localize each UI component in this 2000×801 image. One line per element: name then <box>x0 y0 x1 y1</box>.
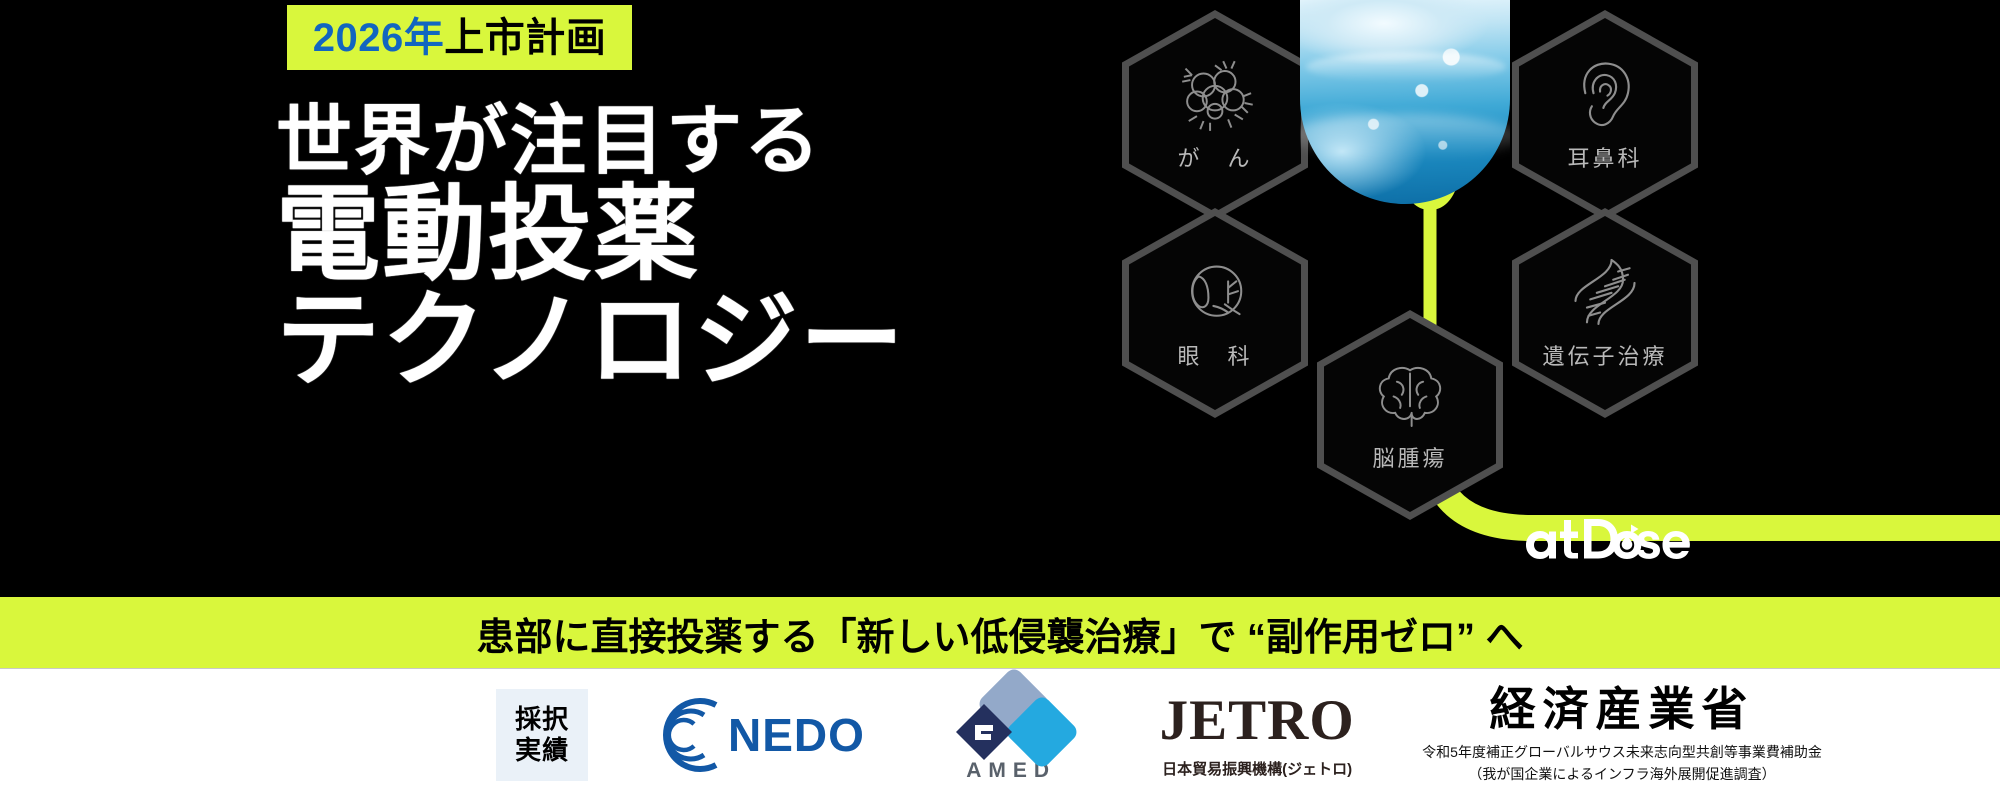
badge-year: 2026年 <box>313 16 444 60</box>
eyeball-icon <box>1174 255 1256 329</box>
page-title: 世界が注目する 電動投薬 テクノロジー <box>276 105 906 393</box>
headline-line-2: 電動投薬 <box>276 185 906 287</box>
chip-line-1: 採択 <box>515 704 569 735</box>
jetro-logo: JETRO 日本貿易振興機構(ジェトロ) <box>1148 692 1366 779</box>
chip-line-2: 実績 <box>515 735 569 766</box>
tagline-text: 患部に直接投薬する「新しい低侵襲治療」で “副作用ゼロ” へ <box>476 606 1523 661</box>
svg-text:NEDO: NEDO <box>728 709 865 761</box>
adoption-record-chip: 採択 実績 <box>496 689 588 781</box>
headline-line-1: 世界が注目する <box>276 105 906 179</box>
meti-logo: 経済産業省 令和5年度補正グローバルサウス未来志向型共創等事業費補助金 （我が国… <box>1422 687 1822 784</box>
hero-banner: 2026年上市計画 世界が注目する 電動投薬 テクノロジー <box>0 0 2000 801</box>
cancer-cells-icon <box>1174 57 1256 131</box>
hex-label-ent: 耳鼻科 <box>1567 141 1642 173</box>
nedo-logo: NEDO <box>660 697 872 773</box>
meti-wordmark: 経済産業省 <box>1490 687 1755 733</box>
atdose-logo <box>1518 515 1718 567</box>
jetro-subtitle: 日本貿易振興機構(ジェトロ) <box>1162 758 1352 779</box>
hex-label-eye: 眼 科 <box>1177 339 1252 371</box>
hex-label-gene: 遺伝子治療 <box>1542 339 1667 371</box>
jetro-wordmark: JETRO <box>1160 692 1355 749</box>
meti-subsidy-line-1: 令和5年度補正グローバルサウス未来志向型共創等事業費補助金 <box>1422 742 1822 762</box>
brain-icon <box>1369 357 1451 431</box>
badge-rest: 上市計画 <box>444 16 606 60</box>
amed-logo: AMED <box>936 683 1086 787</box>
headline-line-3: テクノロジー <box>276 291 906 393</box>
hex-label-brain: 脳腫瘍 <box>1372 441 1447 473</box>
credentials-footer: 採択 実績 NEDO <box>0 669 2000 801</box>
dna-helix-icon <box>1564 255 1646 329</box>
water-capsule-icon <box>1300 0 1510 204</box>
tagline-strip: 患部に直接投薬する「新しい低侵襲治療」で “副作用ゼロ” へ <box>0 597 2000 669</box>
amed-squares-icon <box>949 683 1073 757</box>
hero-section: 2026年上市計画 世界が注目する 電動投薬 テクノロジー <box>0 0 2000 597</box>
lime-curve-connector <box>1290 597 1550 613</box>
hex-label-cancer: が ん <box>1177 141 1252 173</box>
ear-icon <box>1564 57 1646 131</box>
badge-text: 2026年上市計画 <box>313 18 606 58</box>
launch-year-badge: 2026年上市計画 <box>287 5 632 70</box>
meti-subsidy-line-2: （我が国企業によるインフラ海外展開促進調査） <box>1468 764 1775 784</box>
